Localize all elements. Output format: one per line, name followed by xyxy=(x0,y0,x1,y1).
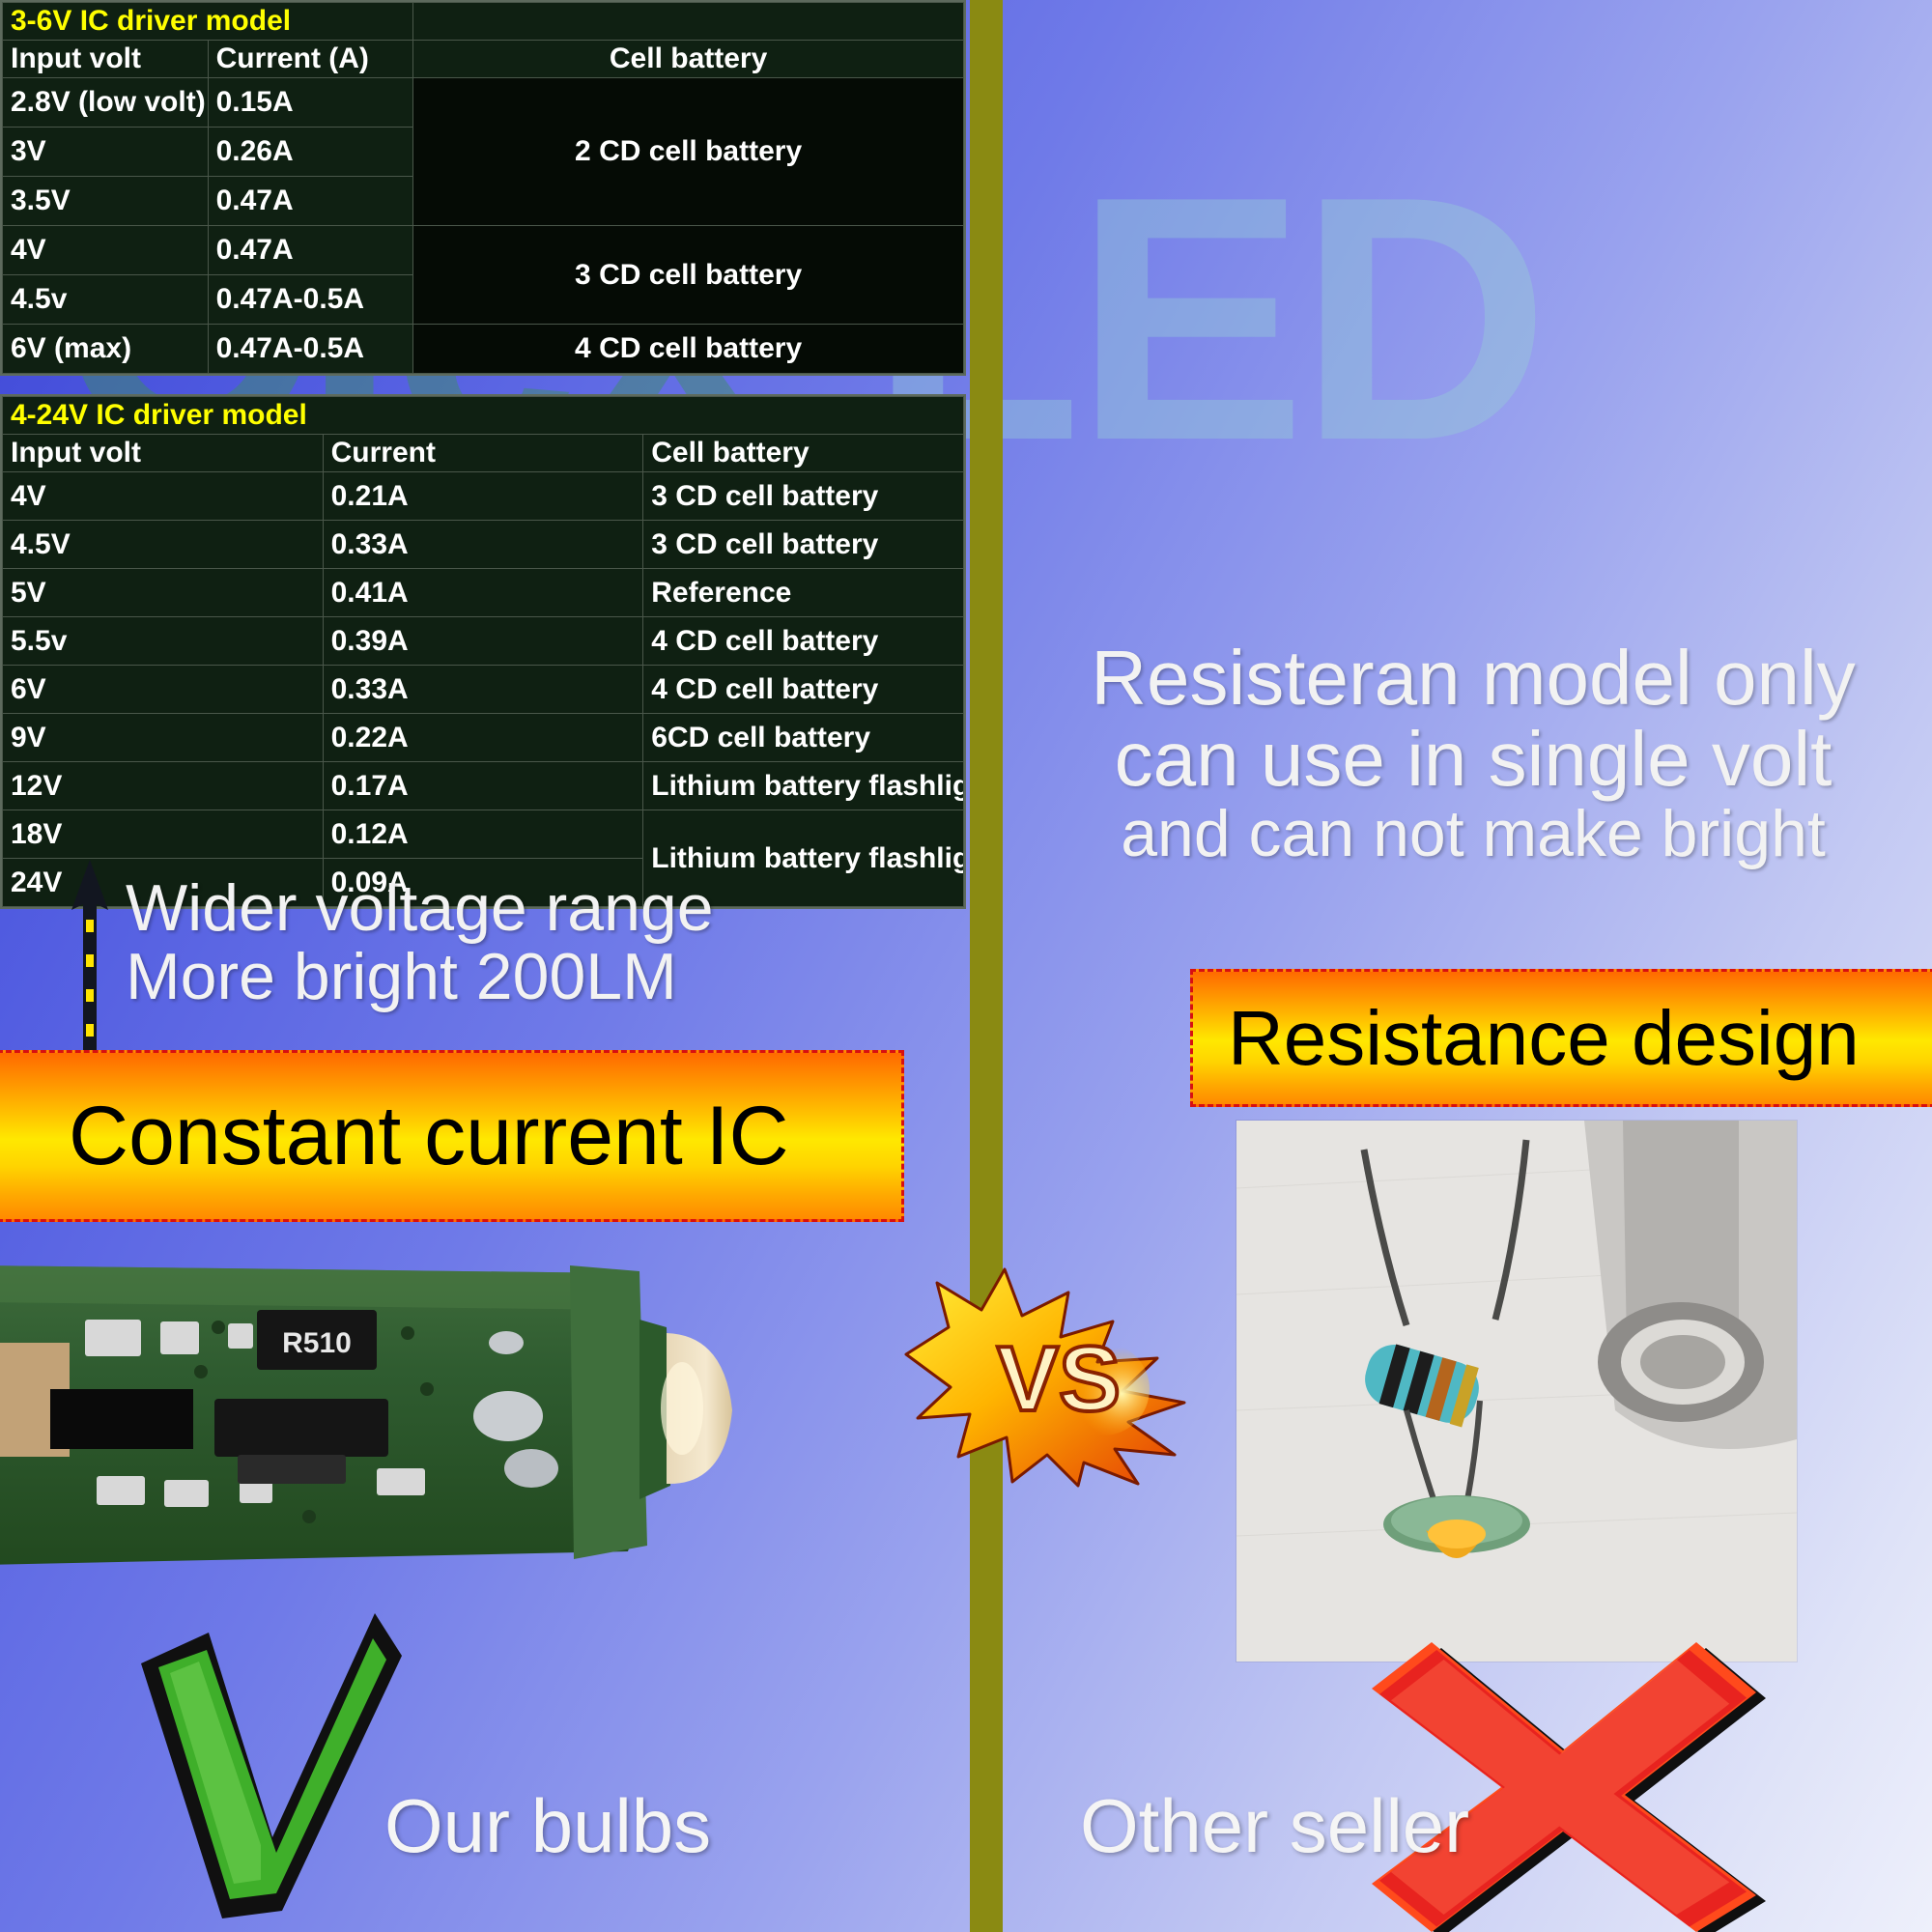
left-callout-text: Wider voltage range More bright 200LM xyxy=(126,874,918,1010)
left-callout-line-2: More bright 200LM xyxy=(126,943,918,1011)
table2-battery-5: 6CD cell battery xyxy=(643,714,964,762)
table1-current-3: 0.47A xyxy=(208,226,413,275)
table2-volt-7: 18V xyxy=(3,810,324,859)
table1-volt-5: 6V (max) xyxy=(3,325,209,374)
table1-current-1: 0.26A xyxy=(208,128,413,177)
table2-current-0: 0.21A xyxy=(323,472,643,521)
table1-volt-4: 4.5v xyxy=(3,275,209,325)
table1-current-0: 0.15A xyxy=(208,78,413,128)
table-header-row: Input volt Current Cell battery xyxy=(3,435,964,472)
table2-current-7: 0.12A xyxy=(323,810,643,859)
table-row: 4V 0.47A 3 CD cell battery xyxy=(3,226,964,275)
check-mark-icon xyxy=(116,1604,406,1922)
table1-battery-group-0: 2 CD cell battery xyxy=(413,78,964,226)
table2-battery-4: 4 CD cell battery xyxy=(643,666,964,714)
table-row: 6V (max) 0.47A-0.5A 4 CD cell battery xyxy=(3,325,964,374)
table-row: 3-6V IC driver model xyxy=(3,3,964,41)
banner-right-label: Resistance design xyxy=(1228,994,1860,1083)
banner-constant-current-ic: Constant current IC xyxy=(0,1050,904,1222)
infographic-canvas: Clex-LED 3-6V IC driver model Input volt… xyxy=(0,0,1932,1932)
table1-battery-group-2: 4 CD cell battery xyxy=(413,325,964,374)
table-row: 5V 0.41A Reference xyxy=(3,569,964,617)
table1-volt-1: 3V xyxy=(3,128,209,177)
right-callout-text: Resisteran model only can use in single … xyxy=(1019,638,1927,868)
table2-current-2: 0.41A xyxy=(323,569,643,617)
table-row: 2.8V (low volt) 0.15A 2 CD cell battery xyxy=(3,78,964,128)
spec-table-1: 3-6V IC driver model Input volt Current … xyxy=(2,2,964,374)
table1-volt-3: 4V xyxy=(3,226,209,275)
table2-current-3: 0.39A xyxy=(323,617,643,666)
table2-current-5: 0.22A xyxy=(323,714,643,762)
table-row: 4V 0.21A 3 CD cell battery xyxy=(3,472,964,521)
table1-current-2: 0.47A xyxy=(208,177,413,226)
table1-volt-0: 2.8V (low volt) xyxy=(3,78,209,128)
table-row: 4.5V 0.33A 3 CD cell battery xyxy=(3,521,964,569)
table1-current-4: 0.47A-0.5A xyxy=(208,275,413,325)
table-4-24v-driver: 4-24V IC driver model Input volt Current… xyxy=(0,394,966,909)
table-3-6v-driver: 3-6V IC driver model Input volt Current … xyxy=(0,0,966,376)
label-our-bulbs: Our bulbs xyxy=(384,1782,711,1870)
table-row: 4-24V IC driver model xyxy=(3,397,964,435)
table1-header-current: Current (A) xyxy=(208,41,413,78)
right-callout-line-2: can use in single volt xyxy=(1019,719,1927,800)
table2-battery-0: 3 CD cell battery xyxy=(643,472,964,521)
right-callout-line-1: Resisteran model only xyxy=(1019,638,1927,719)
table-header-row: Input volt Current (A) Cell battery xyxy=(3,41,964,78)
vs-label: VS xyxy=(997,1327,1121,1431)
table2-volt-3: 5.5v xyxy=(3,617,324,666)
table2-volt-2: 5V xyxy=(3,569,324,617)
table2-battery-6: Lithium battery flashlight xyxy=(643,762,964,810)
table2-volt-0: 4V xyxy=(3,472,324,521)
table2-battery-3: 4 CD cell battery xyxy=(643,617,964,666)
vs-burst-icon: VS xyxy=(898,1265,1217,1488)
table1-header-cell-battery: Cell battery xyxy=(413,41,964,78)
banner-left-label: Constant current IC xyxy=(69,1089,789,1184)
table2-current-6: 0.17A xyxy=(323,762,643,810)
spec-table-2: 4-24V IC driver model Input volt Current… xyxy=(2,396,964,907)
svg-text:R510: R510 xyxy=(282,1327,352,1359)
banner-resistance-design: Resistance design xyxy=(1190,969,1932,1107)
pcb-driver-photo: R510 xyxy=(0,1227,860,1633)
table2-volt-5: 9V xyxy=(3,714,324,762)
label-other-seller: Other seller xyxy=(1080,1782,1469,1870)
table2-header-current: Current xyxy=(323,435,643,472)
resistor-bulb-photo xyxy=(1236,1121,1797,1662)
right-callout-line-3: and can not make bright xyxy=(1019,800,1927,868)
table2-title: 4-24V IC driver model xyxy=(3,397,964,435)
table2-current-4: 0.33A xyxy=(323,666,643,714)
table1-header-input-volt: Input volt xyxy=(3,41,209,78)
table1-volt-2: 3.5V xyxy=(3,177,209,226)
table1-title: 3-6V IC driver model xyxy=(3,3,413,41)
table-row: 12V 0.17A Lithium battery flashlight xyxy=(3,762,964,810)
table2-battery-2: Reference xyxy=(643,569,964,617)
table2-volt-1: 4.5V xyxy=(3,521,324,569)
table1-battery-group-1: 3 CD cell battery xyxy=(413,226,964,325)
table2-battery-1: 3 CD cell battery xyxy=(643,521,964,569)
table1-current-5: 0.47A-0.5A xyxy=(208,325,413,374)
table2-volt-6: 12V xyxy=(3,762,324,810)
left-callout-line-1: Wider voltage range xyxy=(126,874,918,943)
table-row: 9V 0.22A 6CD cell battery xyxy=(3,714,964,762)
table2-volt-4: 6V xyxy=(3,666,324,714)
table2-header-cell-battery: Cell battery xyxy=(643,435,964,472)
table-row: 6V 0.33A 4 CD cell battery xyxy=(3,666,964,714)
table1-title-blank xyxy=(413,3,964,41)
table2-header-input-volt: Input volt xyxy=(3,435,324,472)
table-row: 18V 0.12A Lithium battery flashlight xyxy=(3,810,964,859)
up-arrow-icon xyxy=(68,860,112,1082)
table-row: 5.5v 0.39A 4 CD cell battery xyxy=(3,617,964,666)
vertical-divider xyxy=(970,0,1003,1932)
table2-current-1: 0.33A xyxy=(323,521,643,569)
